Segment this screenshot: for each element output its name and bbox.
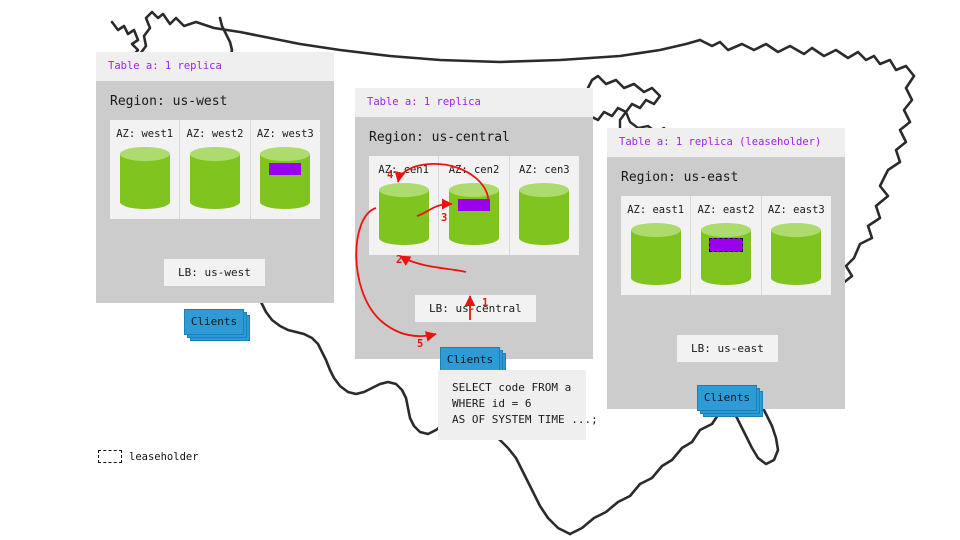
flow-step-label-2: 2 (396, 254, 402, 266)
flow-step-label-1: 1 (482, 297, 488, 309)
leaseholder-swatch-icon (98, 450, 122, 463)
flow-step-label-3: 3 (441, 212, 447, 224)
flow-arrow-5 (356, 208, 436, 336)
replica-marker-east2-leaseholder (709, 238, 743, 252)
replica-marker-cen2 (458, 199, 490, 211)
replica-marker-west3 (269, 163, 301, 175)
flow-step-label-4: 4 (387, 169, 393, 181)
legend-leaseholder: leaseholder (98, 450, 199, 463)
flow-arrow-2 (400, 256, 466, 272)
flow-step-label-5: 5 (417, 338, 423, 350)
legend-label: leaseholder (129, 451, 199, 463)
diagram-canvas: Table a: 1 replica Region: us-west AZ: w… (0, 0, 960, 540)
